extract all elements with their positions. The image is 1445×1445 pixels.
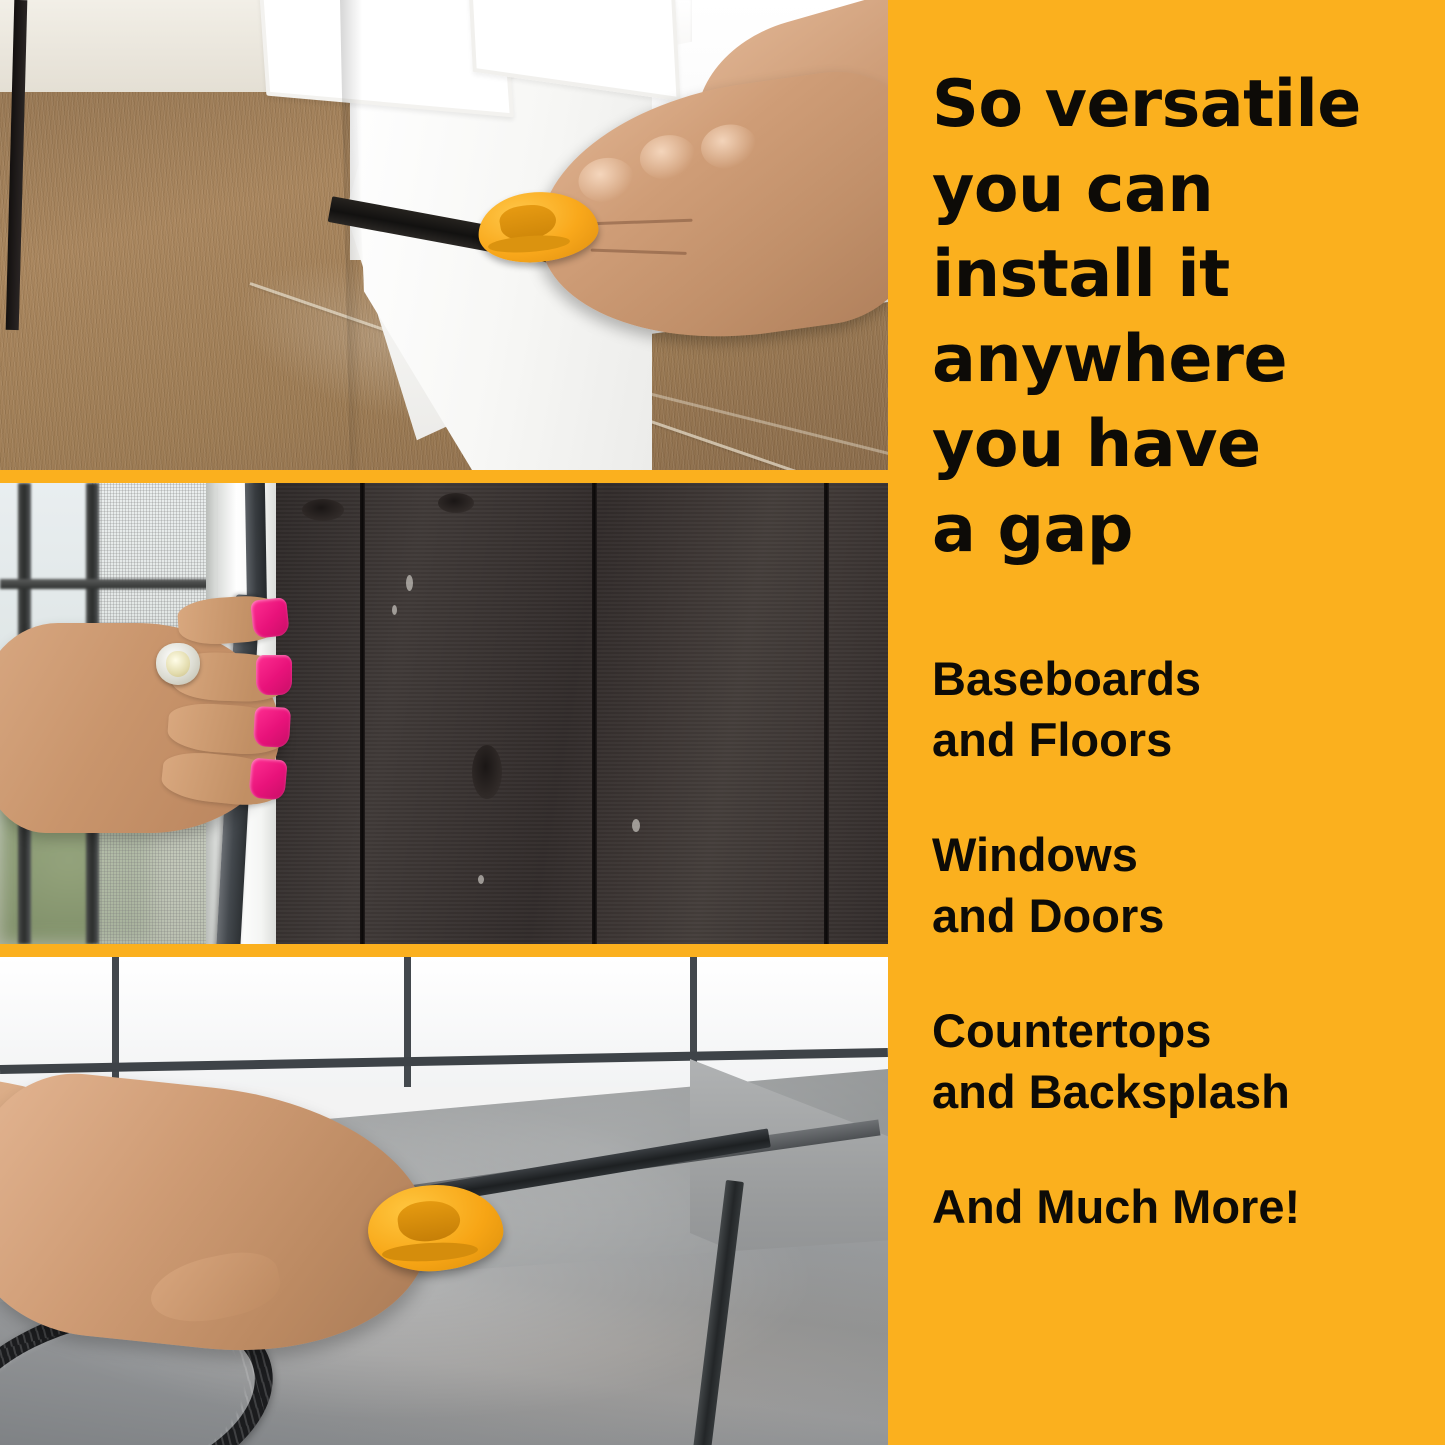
headline-line-3: install it	[932, 232, 1432, 317]
pink-nail	[256, 655, 292, 695]
ring-stone	[166, 651, 190, 677]
pink-nail	[253, 706, 291, 748]
text-column: So versatile you can install it anywhere…	[888, 0, 1445, 1445]
use-case-line: Windows	[932, 824, 1432, 885]
product-feature-graphic: So versatile you can install it anywhere…	[0, 0, 1445, 1445]
panel-divider	[0, 944, 888, 957]
pink-nail	[250, 597, 290, 639]
pink-nail	[248, 758, 287, 801]
headline-line-1: So versatile	[932, 62, 1432, 147]
use-case-countertops-and-backsplash: Countertops and Backsplash	[932, 1000, 1432, 1122]
headline-line-4: anywhere	[932, 317, 1432, 402]
photo-column	[0, 0, 888, 1445]
headline-line-2: you can	[932, 147, 1432, 232]
use-case-line: And Much More!	[932, 1176, 1432, 1237]
photo-window-door	[0, 483, 888, 944]
use-case-windows-and-doors: Windows and Doors	[932, 824, 1432, 946]
use-case-line: and Floors	[932, 709, 1432, 770]
headline: So versatile you can install it anywhere…	[932, 62, 1432, 572]
use-case-line: Countertops	[932, 1000, 1432, 1061]
use-case-list: Baseboards and Floors Windows and Doors …	[932, 648, 1432, 1237]
panel-divider	[0, 470, 888, 483]
headline-line-6: a gap	[932, 487, 1432, 572]
use-case-baseboards-and-floors: Baseboards and Floors	[932, 648, 1432, 770]
headline-line-5: you have	[932, 402, 1432, 487]
gray-flexible-trim	[245, 483, 267, 613]
dark-wood-siding	[276, 483, 888, 944]
use-case-line: and Doors	[932, 885, 1432, 946]
use-case-and-much-more: And Much More!	[932, 1176, 1432, 1237]
photo-baseboard-floor	[0, 0, 888, 470]
photo-countertop-backsplash	[0, 957, 888, 1445]
tile-grout-line	[404, 957, 411, 1087]
use-case-line: and Backsplash	[932, 1061, 1432, 1122]
use-case-line: Baseboards	[932, 648, 1432, 709]
